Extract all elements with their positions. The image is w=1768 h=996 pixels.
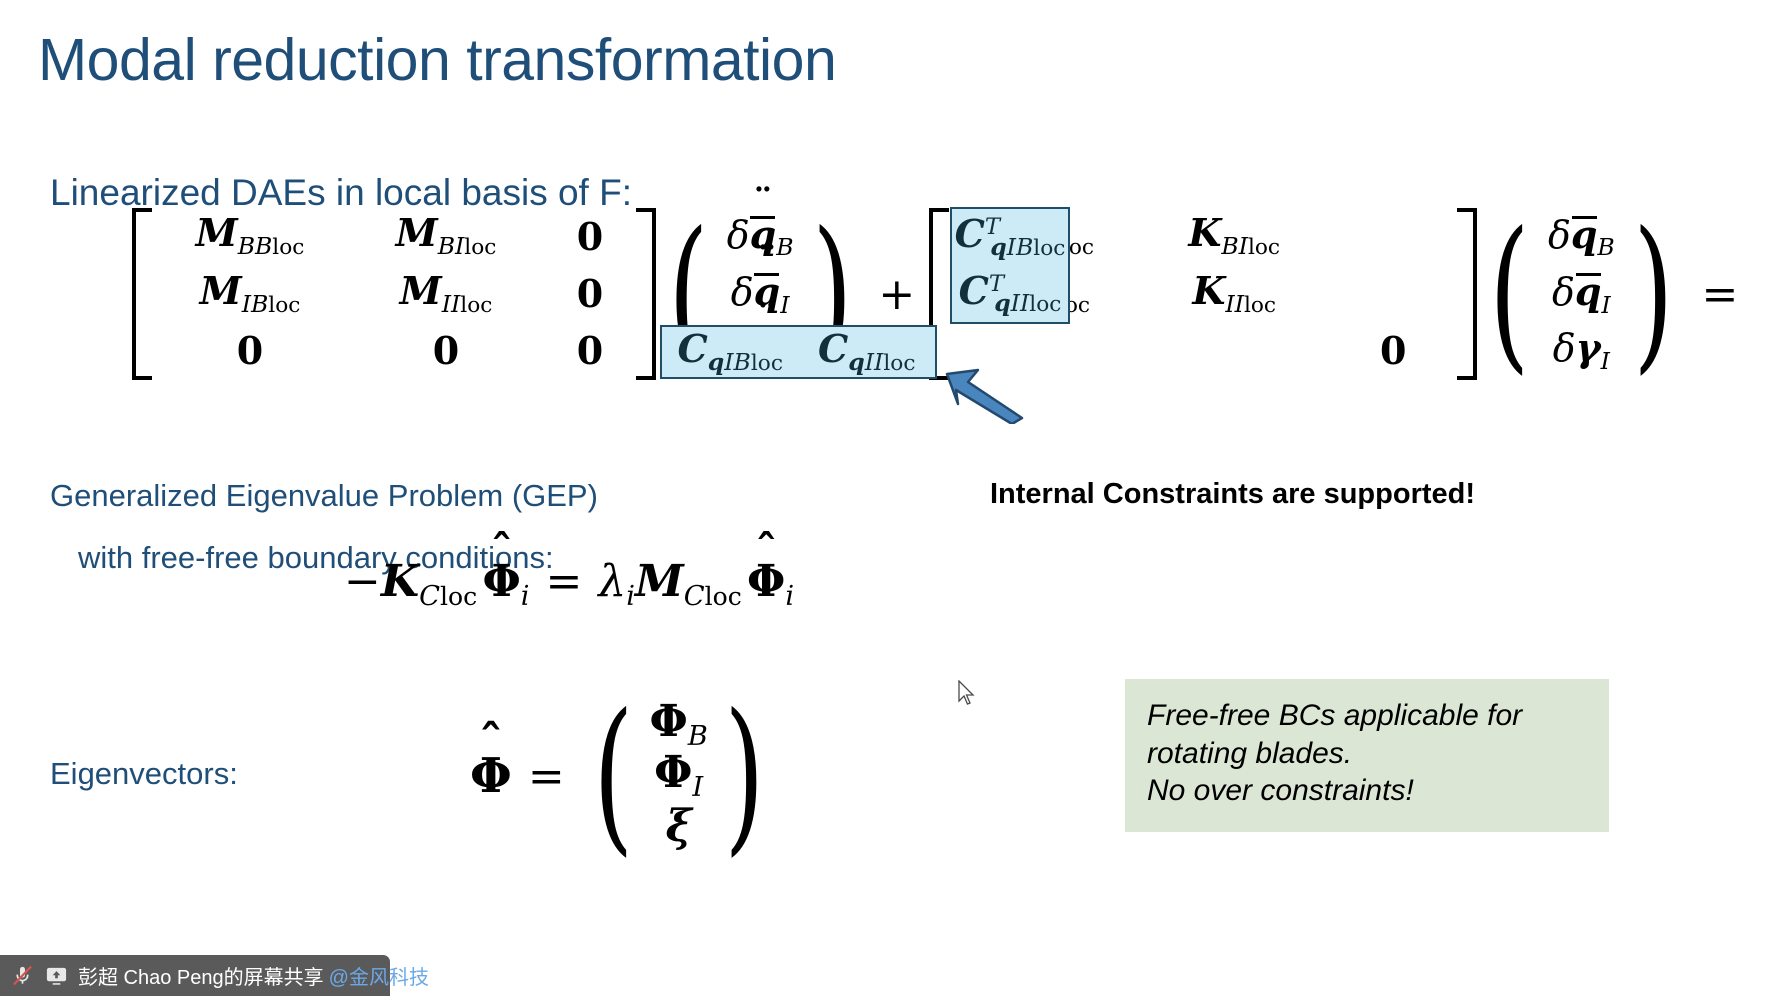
constraint-cell-qib-transpose: CTqIBloc: [955, 215, 1066, 259]
gep-label: Generalized Eigenvalue Problem (GEP): [50, 478, 598, 514]
mass-cell-ib: MIBloc: [200, 272, 301, 316]
eigvec-entry-phii: ΦI: [654, 751, 703, 801]
eigvec-entry-xi: ξ: [666, 805, 692, 849]
screen-share-taskbar[interactable]: 彭超 Chao Peng的屏幕共享 @金风科技: [0, 955, 390, 996]
mass-cell-bb: MBBloc: [196, 214, 305, 258]
eigvec-left-paren: (: [593, 700, 633, 852]
mass-cell-bi: MBIloc: [396, 214, 497, 258]
gep-lambda: λ: [598, 556, 626, 607]
eigvec-phi-hat: Φ: [470, 748, 512, 804]
eigvec-right-paren: ): [724, 700, 764, 852]
highlight-constraint-column: CTqIBloc CTqIIloc: [950, 207, 1070, 324]
screen-share-icon[interactable]: [44, 963, 69, 988]
disp-entry-qi: δqI: [1552, 271, 1611, 317]
slide-canvas: Modal reduction transformation Linearize…: [0, 0, 1768, 996]
green-box-line-2: rotating blades.: [1147, 735, 1587, 773]
share-status-text: 彭超 Chao Peng的屏幕共享: [78, 961, 324, 990]
displacement-vector: δqB δqI δγI: [1542, 208, 1621, 380]
page-title: Modal reduction transformation: [38, 30, 836, 92]
share-company-tag: @金风科技: [329, 961, 429, 990]
constraint-cell-qii: CqIIloc: [818, 330, 915, 374]
gep-stiffness-symbol: K: [381, 556, 419, 607]
mouse-cursor: [957, 680, 979, 710]
eigenvectors-label: Eigenvectors:: [50, 756, 238, 792]
disp-entry-gamma: δγI: [1553, 329, 1610, 373]
mass-cell-zero-3: 0: [237, 332, 263, 370]
stiffness-matrix-right-bracket: [1457, 208, 1477, 380]
stiff-cell-zero: 0: [1380, 332, 1406, 370]
disp-entry-qb: δqB: [1548, 214, 1615, 260]
free-free-bc-note-box: Free-free BCs applicable for rotating bl…: [1125, 679, 1609, 832]
gep-phi-lhs: Φ: [482, 556, 520, 607]
internal-constraints-note: Internal Constraints are supported!: [990, 478, 1475, 511]
mass-cell-zero-2: 0: [577, 275, 603, 313]
stiff-cell-ii: KIIloc: [1192, 272, 1276, 316]
equals-operator: =: [1686, 269, 1755, 320]
constraint-cell-qii-transpose: CTqIIloc: [959, 272, 1062, 316]
mass-cell-ii: MIIloc: [400, 272, 493, 316]
plus-operator: +: [864, 269, 929, 320]
mass-matrix: MBBloc MBIloc 0 MIBloc MIIloc 0 0 0 0: [152, 208, 636, 380]
cursor-arrow-icon: [957, 680, 979, 710]
disp-vector-right-paren: ): [1633, 208, 1673, 380]
gep-equation: −KClocΦi=λiMClocΦi: [344, 556, 794, 612]
mass-cell-zero-4: 0: [433, 332, 459, 370]
disp-vector-left-paren: (: [1489, 208, 1529, 380]
gep-minus-sign: −: [344, 556, 381, 607]
eigvec-entry-phib: ΦB: [649, 700, 707, 750]
callout-arrow: [944, 368, 1028, 424]
mass-matrix-left-bracket: [132, 208, 152, 380]
microphone-muted-icon[interactable]: [10, 963, 35, 988]
mass-cell-zero-5: 0: [577, 332, 603, 370]
gep-phi-rhs: Φ: [747, 556, 785, 607]
mass-matrix-right-bracket: [636, 208, 656, 380]
eigvec-equals: =: [512, 751, 581, 802]
eigenvector-column: ΦB ΦI ξ: [645, 700, 711, 852]
constraint-cell-qib: CqIBloc: [678, 330, 783, 374]
eigenvector-equation: Φ = ( ΦB ΦI ξ ): [470, 700, 777, 852]
highlight-constraint-row: CqIBloc CqIIloc: [660, 325, 937, 379]
stiff-cell-bi: KBIloc: [1188, 214, 1280, 258]
gep-mass-symbol: M: [635, 556, 684, 607]
green-box-line-3: No over constraints!: [1147, 772, 1587, 810]
arrow-up-left-icon: [944, 368, 1028, 424]
gep-equals: =: [530, 556, 599, 607]
green-box-line-1: Free-free BCs applicable for: [1147, 697, 1587, 735]
mass-cell-zero-1: 0: [577, 218, 603, 256]
